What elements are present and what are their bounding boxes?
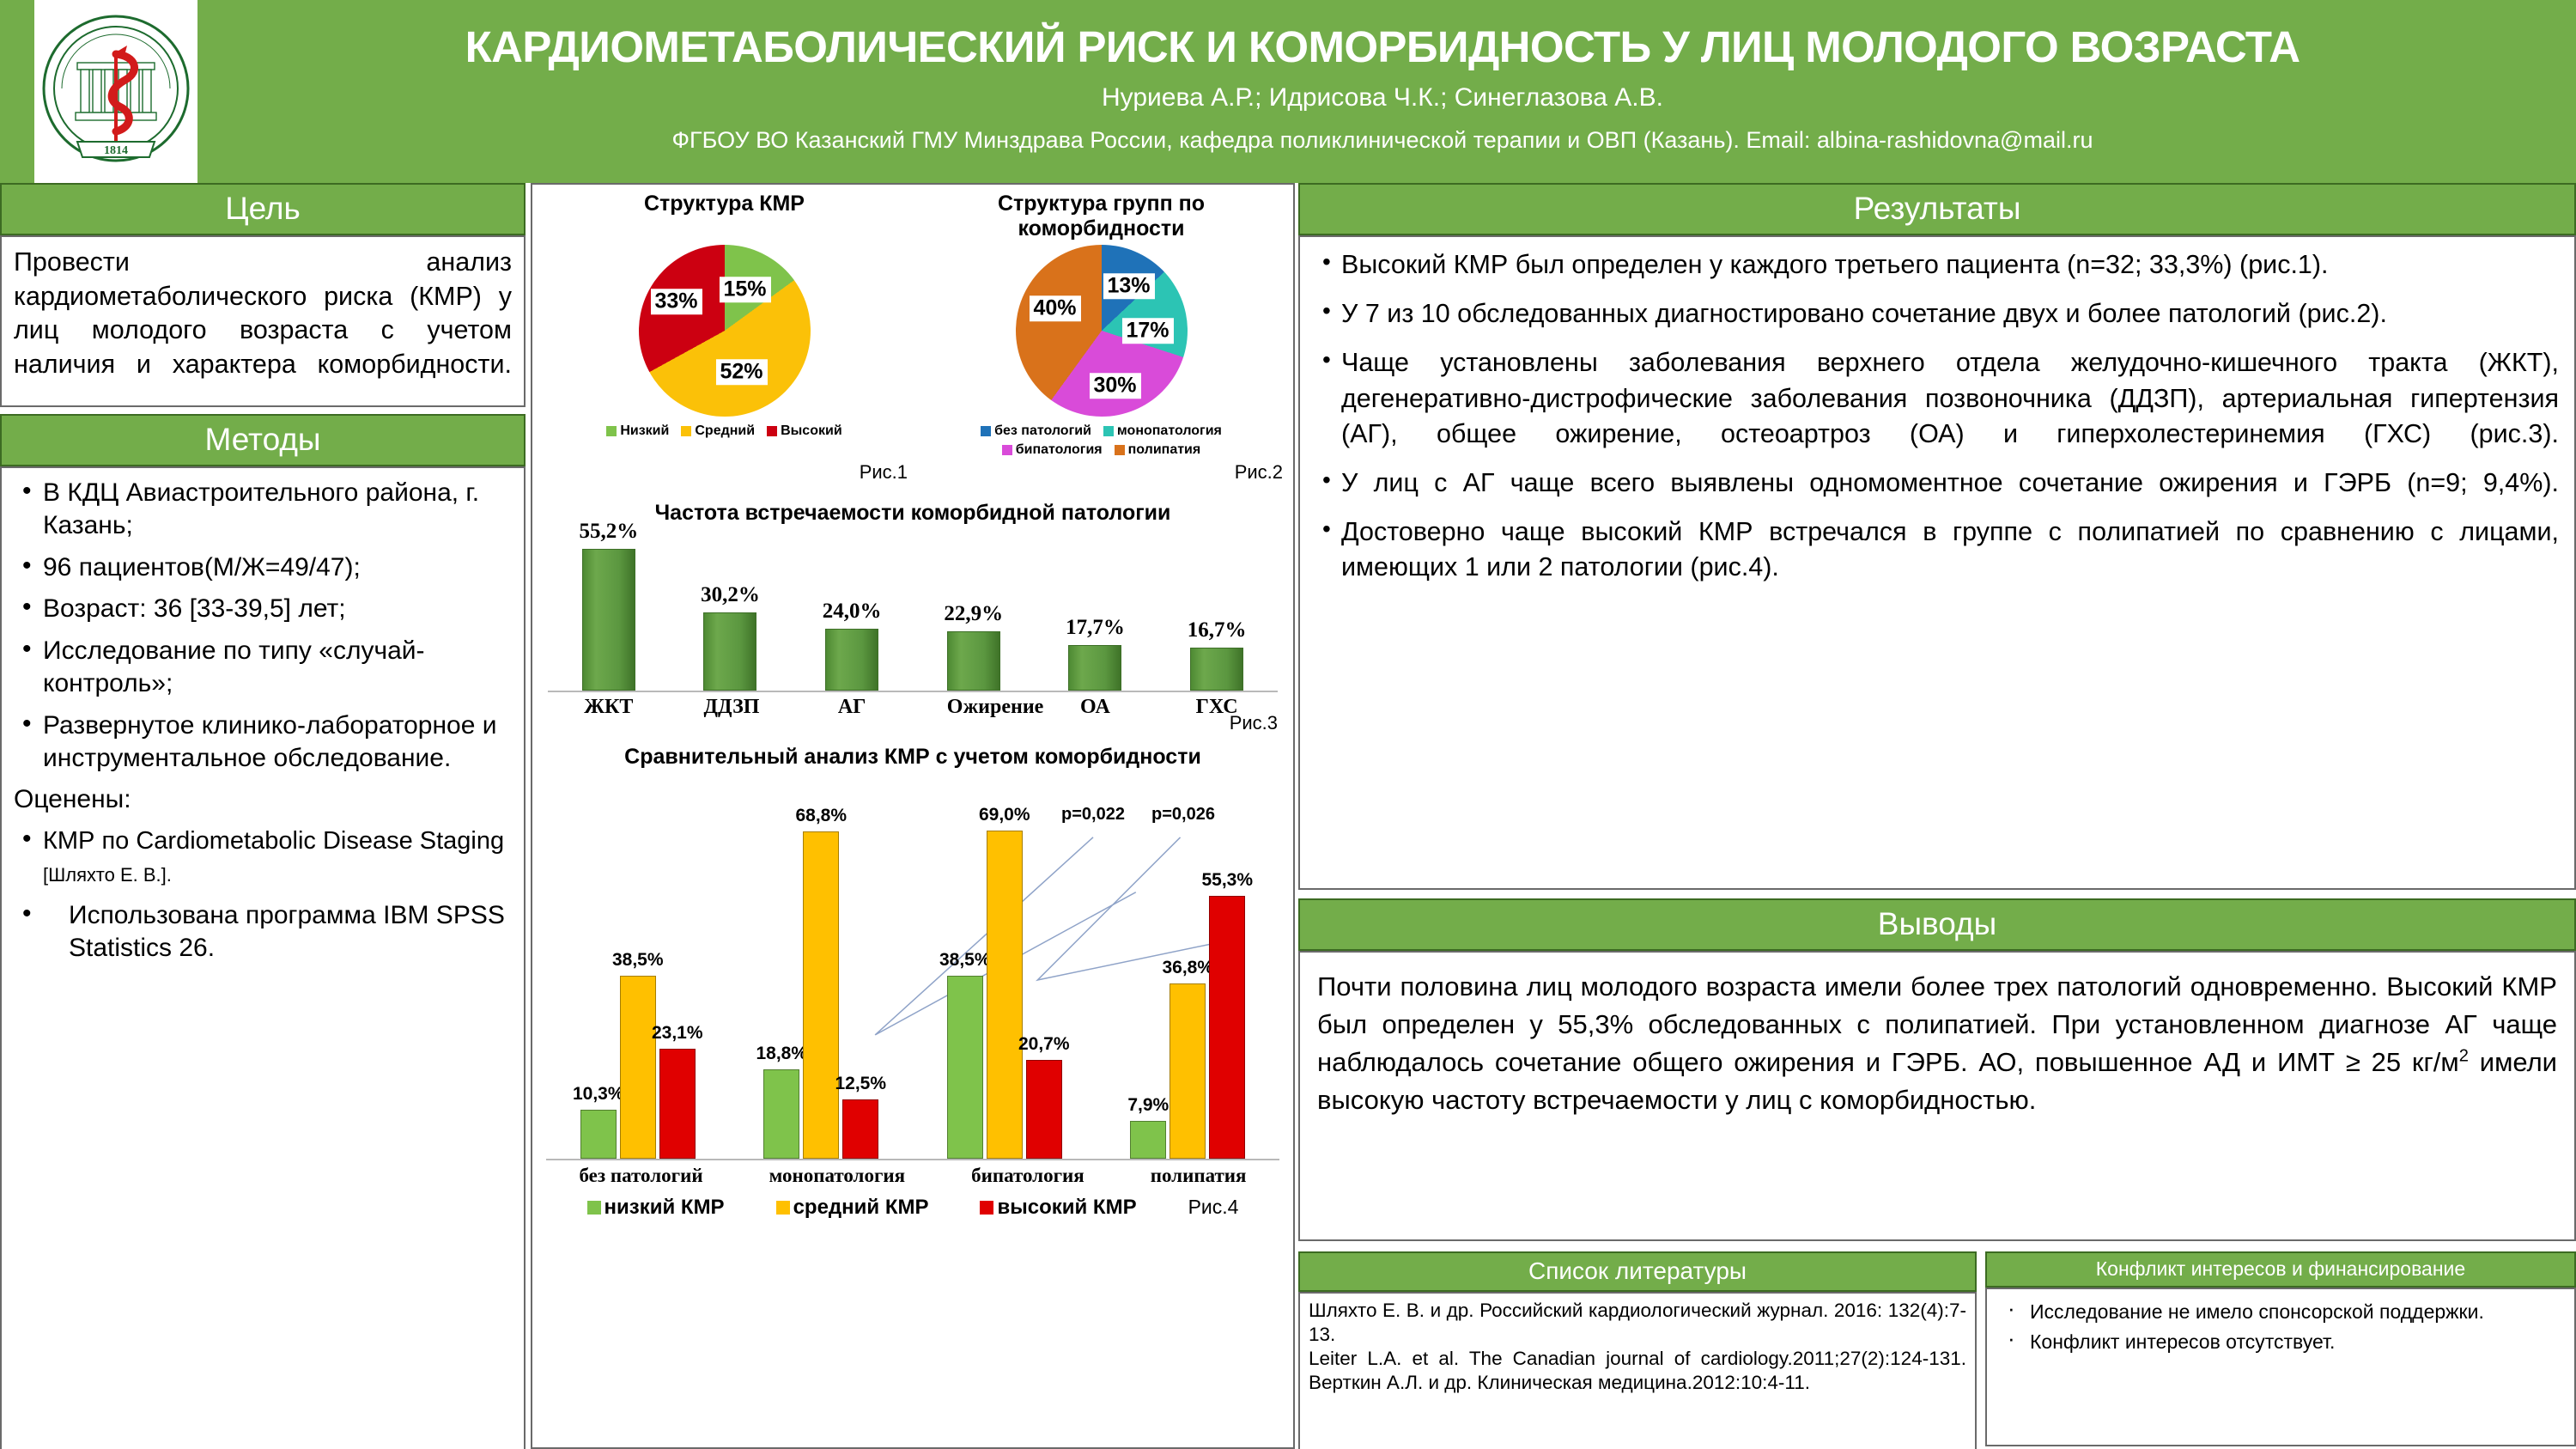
axis-tick-label: ДДЗП (703, 696, 756, 719)
pie-slice-label-mid: 52% (715, 359, 767, 385)
legend-label: бипатология (1016, 442, 1103, 458)
bottom-row: Список литературы Шляхто Е. В. и др. Рос… (1298, 1251, 2576, 1449)
axis-tick-label: Ожирение (947, 696, 1000, 719)
chart-title: Структура КМР (644, 192, 805, 241)
legend-swatch-icon (1115, 445, 1125, 455)
results-list: Высокий КМР был определен у каждого трет… (1315, 247, 2559, 585)
conclusions-section-body: Почти половина лиц молодого возраста име… (1298, 951, 2576, 1241)
pie-legend: без патологий монопатология бипатология … (973, 423, 1230, 458)
list-item: КМР по Cardiometabolic Disease Staging [… (14, 825, 512, 890)
bar-value-label: 7,9% (1127, 1095, 1169, 1121)
list-item: У 7 из 10 обследованных диагностировано … (1315, 296, 2559, 332)
figure-number: Рис.4 (1188, 1196, 1239, 1220)
legend-label: Средний (695, 423, 755, 439)
legend-swatch-icon (767, 426, 777, 436)
bar-item: 10,3% (580, 1110, 617, 1159)
page-title: КАРДИОМЕТАБОЛИЧЕСКИЙ РИСК И КОМОРБИДНОСТ… (465, 24, 2300, 70)
axis-tick-label: ОА (1068, 696, 1121, 719)
charts-panel: Структура КМР 15% 52% 33% Низкий Средний… (531, 183, 1295, 1449)
pie-legend: Низкий Средний Высокий (606, 423, 841, 439)
bar-item: 36,8% (1170, 983, 1206, 1159)
assessed-item-citation: [Шляхто Е. В.]. (43, 864, 172, 886)
bar-legend: низкий КМР средний КМР высокий КМР Рис.4 (546, 1196, 1279, 1220)
legend-swatch-icon (981, 426, 991, 436)
bar-item: 17,7% (1068, 645, 1121, 691)
pie-charts-row: Структура КМР 15% 52% 33% Низкий Средний… (532, 185, 1293, 458)
bar-rect (580, 1110, 617, 1159)
bar-item: 22,9% (947, 631, 1000, 691)
authors-line: Нуриева А.Р.; Идрисова Ч.К.; Синеглазова… (1102, 82, 1663, 114)
bar-plot-area: 10,3% 38,5% 23,1% 18,8% 68,8% 12,5% (546, 800, 1279, 1160)
bar-value-label: 17,7% (1066, 616, 1125, 645)
references-section: Список литературы Шляхто Е. В. и др. Рос… (1298, 1251, 1977, 1449)
reference-entry: Leiter L.A. et al. The Canadian journal … (1309, 1347, 1966, 1371)
bar-item: 55,3% (1209, 896, 1245, 1159)
bar-x-axis-labels: без патологий монопатология бипатология … (546, 1165, 1279, 1187)
list-item: Развернутое клинико-лабораторное и инстр… (14, 709, 512, 775)
bar-value-label: 68,8% (795, 806, 847, 831)
pie-slice-label-monopathology: 17% (1121, 318, 1173, 344)
bar-rect (987, 831, 1023, 1159)
pie-chart-comorbidity-groups: Структура групп по коморбидности 13% 17%… (913, 192, 1290, 458)
axis-tick-label: ЖКТ (582, 696, 635, 719)
bar-group-bipathology: 38,5% 69,0% 20,7% (947, 831, 1062, 1159)
list-item: Исследование по типу «случай-контроль»; (14, 635, 512, 700)
header-text-block: КАРДИОМЕТАБОЛИЧЕСКИЙ РИСК И КОМОРБИДНОСТ… (197, 0, 2576, 183)
legend-swatch-icon (681, 426, 691, 436)
list-item: У лиц с АГ чаще всего выявлены одномомен… (1315, 466, 2559, 501)
methods-list: В КДЦ Авиастроительного района, г. Казан… (14, 477, 512, 774)
bar-value-label: 22,9% (944, 602, 1003, 631)
goal-section-body: Провести анализ кардиометаболического ри… (0, 235, 526, 407)
assessed-item-text: КМР по Cardiometabolic Disease Staging (43, 827, 504, 855)
bar-value-label: 69,0% (979, 805, 1030, 831)
legend-label: без патологий (994, 423, 1091, 439)
pie-slice-label-high: 33% (650, 289, 702, 314)
bar-value-label: 12,5% (835, 1074, 886, 1099)
list-item: Исследование не имело спонсорской поддер… (1996, 1300, 2566, 1324)
figure-number: Рис.2 (1235, 461, 1283, 484)
legend-label: монопатология (1117, 423, 1222, 439)
bar-rect (582, 549, 635, 691)
bar-item: 20,7% (1026, 1060, 1062, 1159)
figure-number: Рис.1 (860, 461, 908, 484)
pie-slice-label-bipathology: 30% (1089, 373, 1140, 399)
bar-chart-kmr-comparison: Сравнительный анализ КМР с учетом коморб… (532, 743, 1293, 1221)
axis-tick-label: бипатология (971, 1165, 1084, 1187)
bar-rect (763, 1069, 799, 1159)
bar-item: 16,7% (1190, 648, 1243, 691)
legend-item: полипатия (1115, 442, 1201, 458)
axis-tick-label: монопатология (769, 1165, 906, 1187)
conclusions-text: Почти половина лиц молодого возраста име… (1317, 968, 2557, 1119)
pie-chart-kmr-structure: Структура КМР 15% 52% 33% Низкий Средний… (536, 192, 913, 458)
conflict-section: Конфликт интересов и финансирование Иссл… (1985, 1251, 2576, 1449)
bar-value-label: 55,3% (1201, 870, 1253, 896)
list-item: Возраст: 36 [33-39,5] лет; (14, 593, 512, 625)
poster-body: Цель Провести анализ кардиометаболическо… (0, 183, 2576, 1449)
poster-header: К А З А Н С К И Й Г О С У Д А Р С (0, 0, 2576, 183)
bar-item: 38,5% (947, 976, 983, 1159)
legend-label: низкий КМР (605, 1196, 725, 1220)
conflict-section-body: Исследование не имело спонсорской поддер… (1985, 1288, 2576, 1446)
list-item: Чаще установлены заболевания верхнего от… (1315, 345, 2559, 452)
bar-group-monopathology: 18,8% 68,8% 12,5% (763, 831, 878, 1159)
bar-item: 68,8% (803, 831, 839, 1159)
list-item: 96 пациентов(М/Ж=49/47); (14, 551, 512, 584)
bar-value-label: 20,7% (1018, 1034, 1070, 1060)
bar-chart-pathology-frequency: Частота встречаемости коморбидной патоло… (532, 497, 1293, 719)
bar-item: 55,2% (582, 549, 635, 691)
legend-item: без патологий (981, 423, 1091, 439)
pie-graphic: 13% 17% 30% 40% (1016, 245, 1188, 417)
references-section-body: Шляхто Е. В. и др. Российский кардиологи… (1298, 1292, 1977, 1449)
bar-value-label: 38,5% (939, 950, 991, 976)
legend-item: средний КМР (776, 1196, 929, 1220)
legend-item: Средний (681, 423, 755, 439)
bar-value-label: 24,0% (823, 600, 882, 629)
legend-swatch-icon (606, 426, 617, 436)
conflict-list: Исследование не имело спонсорской поддер… (1996, 1300, 2566, 1355)
conflict-section-heading: Конфликт интересов и финансирование (1985, 1251, 2576, 1288)
figure-number: Рис.3 (1230, 712, 1278, 734)
methods-assessed-list: КМР по Cardiometabolic Disease Staging [… (14, 825, 512, 964)
axis-tick-label: полипатия (1151, 1165, 1247, 1187)
bar-rect (825, 629, 878, 691)
legend-swatch-icon (1002, 445, 1012, 455)
pie-slice-label-no-pathology: 13% (1103, 273, 1154, 299)
bar-item: 38,5% (620, 976, 656, 1159)
legend-item: Низкий (606, 423, 669, 439)
legend-label: Низкий (620, 423, 669, 439)
pie-slice-label-polypathology: 40% (1029, 295, 1080, 321)
legend-label: полипатия (1128, 442, 1201, 458)
bar-item: 18,8% (763, 1069, 799, 1159)
bar-item: 30,2% (703, 612, 756, 691)
bar-value-label: 10,3% (573, 1084, 624, 1110)
bar-rect (803, 831, 839, 1159)
legend-item: Высокий (767, 423, 842, 439)
bar-value-label: 38,5% (612, 950, 664, 976)
bar-x-axis-labels: ЖКТ ДДЗП АГ Ожирение ОА ГХС (548, 696, 1278, 719)
seal-year-label: 1814 (104, 144, 128, 157)
bar-item: 24,0% (825, 629, 878, 691)
bar-group-no-pathology: 10,3% 38,5% 23,1% (580, 976, 696, 1159)
list-item: В КДЦ Авиастроительного района, г. Казан… (14, 477, 512, 542)
bar-item: 23,1% (659, 1049, 696, 1159)
conclusions-text-part1: Почти половина лиц молодого возраста име… (1317, 971, 2557, 1077)
legend-item: бипатология (1002, 442, 1103, 458)
legend-label: Высокий (781, 423, 842, 439)
list-item: Высокий КМР был определен у каждого трет… (1315, 247, 2559, 283)
bar-value-label: 30,2% (701, 583, 760, 612)
legend-swatch-icon (776, 1201, 790, 1215)
list-item: Использована программа IBM SPSS Statisti… (14, 899, 512, 965)
bar-rect (1130, 1121, 1166, 1159)
kazan-medical-university-seal-icon: К А З А Н С К И Й Г О С У Д А Р С (39, 6, 192, 178)
goal-text: Провести анализ кардиометаболического ри… (14, 246, 512, 382)
legend-swatch-icon (980, 1201, 993, 1215)
bar-value-label: 23,1% (652, 1023, 703, 1049)
reference-entry: Шляхто Е. В. и др. Российский кардиологи… (1309, 1299, 1966, 1347)
bar-rect (659, 1049, 696, 1159)
bar-rect (1068, 645, 1121, 691)
charts-column: Структура КМР 15% 52% 33% Низкий Средний… (531, 183, 1295, 1449)
left-column: Цель Провести анализ кардиометаболическо… (0, 183, 526, 1449)
software-item-text: Использована программа IBM SPSS Statisti… (69, 901, 505, 962)
pie-slice-label-low: 15% (719, 277, 770, 302)
bar-rect (1170, 983, 1206, 1159)
university-logo: К А З А Н С К И Й Г О С У Д А Р С (34, 0, 197, 183)
legend-label: высокий КМР (997, 1196, 1136, 1220)
poster-root: К А З А Н С К И Й Г О С У Д А Р С (0, 0, 2576, 1449)
bar-rect (947, 976, 983, 1159)
bar-rect (842, 1099, 878, 1159)
legend-swatch-icon (1103, 426, 1114, 436)
list-item: Конфликт интересов отсутствует. (1996, 1330, 2566, 1355)
references-section-heading: Список литературы (1298, 1251, 1977, 1292)
conclusions-section-heading: Выводы (1298, 898, 2576, 951)
bar-rect (620, 976, 656, 1159)
list-item: Достоверно чаще высокий КМР встречался в… (1315, 514, 2559, 585)
bar-value-label: 36,8% (1162, 958, 1213, 983)
methods-assessed-label: Оценены: (14, 783, 512, 816)
bar-rect (1026, 1060, 1062, 1159)
pie-graphic: 15% 52% 33% (639, 245, 811, 417)
results-section-body: Высокий КМР был определен у каждого трет… (1298, 235, 2576, 890)
bar-rect (1190, 648, 1243, 691)
bar-item: 69,0% (987, 831, 1023, 1159)
legend-item: высокий КМР (980, 1196, 1136, 1220)
bar-rect (1209, 896, 1245, 1159)
legend-swatch-icon (587, 1201, 601, 1215)
bar-value-label: 16,7% (1188, 618, 1247, 648)
right-column: Результаты Высокий КМР был определен у к… (1298, 183, 2576, 1449)
reference-entry: Верткин А.Л. и др. Клиническая медицина.… (1309, 1371, 1966, 1395)
bar-value-label: 55,2% (579, 520, 638, 549)
legend-item: монопатология (1103, 423, 1222, 439)
methods-section-body: В КДЦ Авиастроительного района, г. Казан… (0, 466, 526, 1449)
chart-title: Сравнительный анализ КМР с учетом коморб… (546, 745, 1279, 770)
methods-section-heading: Методы (0, 414, 526, 466)
bar-value-label: 18,8% (756, 1044, 807, 1069)
chart-title: Структура групп по коморбидности (913, 192, 1290, 241)
bar-group-polypathology: 7,9% 36,8% 55,3% (1130, 896, 1245, 1159)
bar-item: 7,9% (1130, 1121, 1166, 1159)
goal-section-heading: Цель (0, 183, 526, 235)
legend-item: низкий КМР (587, 1196, 725, 1220)
chart-title: Частота встречаемости коморбидной патоло… (548, 501, 1278, 526)
affiliation-line: ФГБОУ ВО Казанский ГМУ Минздрава России,… (672, 126, 2093, 155)
bar-plot-area: 55,2% 30,2% 24,0% 22,9% 17,7% 16,7% (548, 529, 1278, 692)
axis-tick-label: АГ (825, 696, 878, 719)
conclusions-superscript: 2 (2459, 1047, 2469, 1066)
bar-rect (703, 612, 756, 691)
results-section-heading: Результаты (1298, 183, 2576, 235)
bar-item: 12,5% (842, 1099, 878, 1159)
axis-tick-label: без патологий (579, 1165, 702, 1187)
legend-label: средний КМР (793, 1196, 929, 1220)
bar-rect (947, 631, 1000, 691)
